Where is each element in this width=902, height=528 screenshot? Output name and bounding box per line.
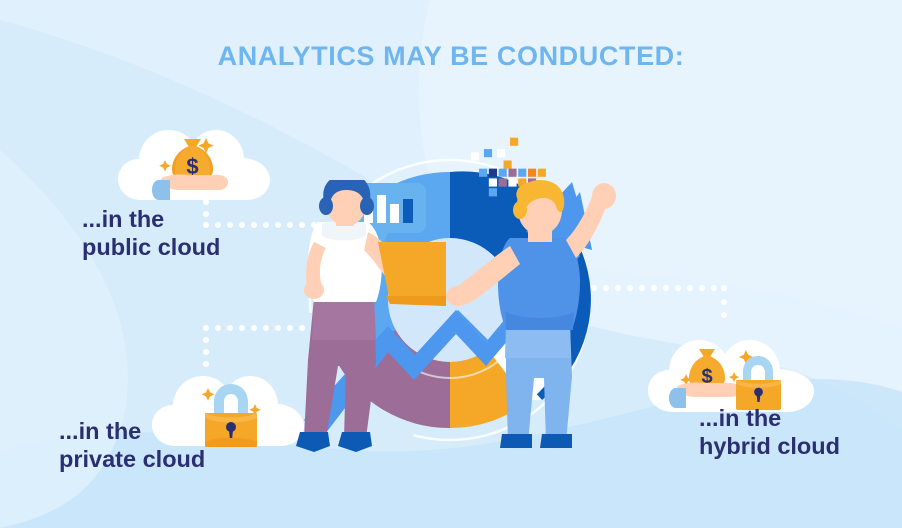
man-figure <box>446 180 616 448</box>
mosaic-tile <box>471 152 479 160</box>
orange-pie-wedge <box>378 242 446 306</box>
label-private-cloud: ...in the private cloud <box>59 418 205 473</box>
woman-figure <box>296 180 423 452</box>
mosaic-tile <box>510 138 518 146</box>
mosaic-tile <box>479 169 487 177</box>
mosaic-tile <box>504 160 512 168</box>
woman-shoe-left <box>296 432 330 452</box>
page-title: ANALYTICS MAY BE CONDUCTED: <box>0 41 902 72</box>
mosaic-tile <box>484 149 492 157</box>
cloud-money-icon: $ <box>118 112 270 210</box>
people-illustration <box>270 180 640 470</box>
woman-shoe-right <box>338 432 372 452</box>
mosaic-tile <box>518 169 526 177</box>
mosaic-tile <box>508 169 516 177</box>
infographic-canvas: ANALYTICS MAY BE CONDUCTED: <box>0 0 902 528</box>
mosaic-tile <box>538 169 546 177</box>
man-shoe-right <box>540 434 572 448</box>
label-hybrid-cloud: ...in the hybrid cloud <box>699 405 840 460</box>
mosaic-tile <box>499 169 507 177</box>
mosaic-tile <box>489 169 497 177</box>
mosaic-tile <box>528 169 536 177</box>
mosaic-tile <box>497 149 505 157</box>
label-public-cloud: ...in the public cloud <box>82 206 220 261</box>
man-shoe-left <box>500 434 532 448</box>
